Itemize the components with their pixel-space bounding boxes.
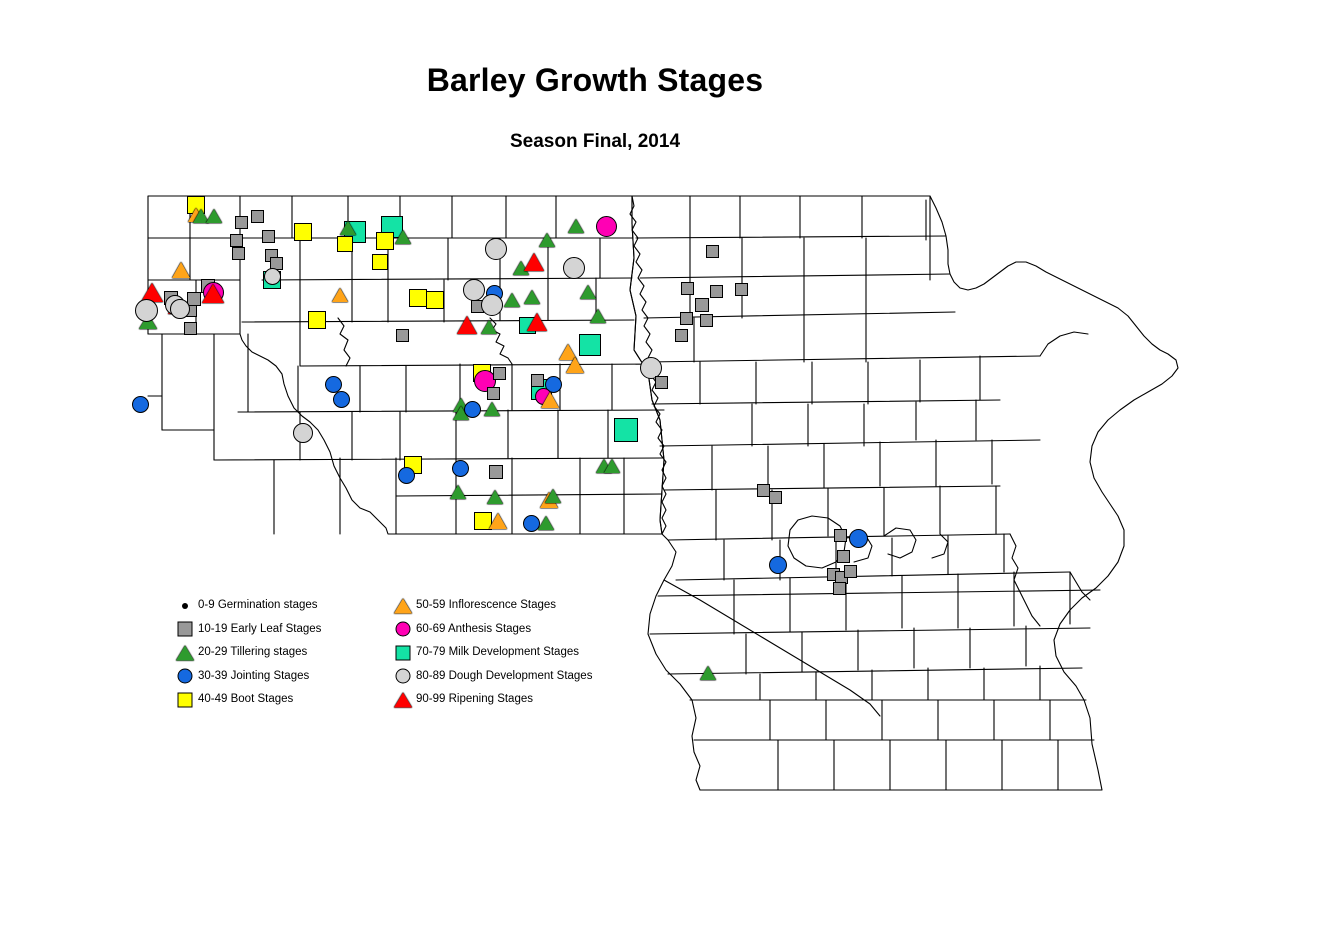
map-marker [340,221,356,235]
map-marker [675,329,688,342]
map-marker [580,285,596,299]
map-marker [264,268,281,285]
map-marker [235,216,248,229]
map-marker [541,392,559,408]
map-marker [409,289,427,307]
map-marker [398,467,415,484]
legend-item-label: 10-19 Early Leaf Stages [198,624,321,636]
map-marker [202,284,224,303]
legend-item-label: 50-59 Inflorescence Stages [416,600,556,612]
map-marker [700,666,716,680]
map-marker [504,293,520,307]
map-marker [232,247,245,260]
map-marker [489,465,503,479]
map-marker [132,396,149,413]
map-marker [251,210,264,223]
legend-item-80-89[interactable]: 80-89 Dough Development Stages [390,665,592,689]
legend-item-label: 70-79 Milk Development Stages [416,647,579,659]
map-marker [293,423,313,443]
map-marker [527,313,547,331]
map-marker [844,565,857,578]
map-marker [484,402,500,416]
map-marker [655,376,668,389]
map-marker [566,357,584,373]
map-marker [376,232,394,250]
map-marker [372,254,388,270]
map-marker [695,298,709,312]
map-marker [464,401,481,418]
legend-column-left: 0-9 Germination stages10-19 Early Leaf S… [172,594,321,712]
legend-item-20-29[interactable]: 20-29 Tillering stages [172,641,321,665]
map-marker [680,312,693,325]
early-leaf-square-icon [172,618,198,640]
map-marker [481,320,497,334]
map-marker [538,516,554,530]
map-marker [769,491,782,504]
ripening-triangle-icon [390,689,416,711]
map-marker [457,316,477,334]
map-marker [426,291,444,309]
map-marker [325,376,342,393]
map-marker [481,294,503,316]
map-marker [262,230,275,243]
legend-item-60-69[interactable]: 60-69 Anthesis Stages [390,618,592,642]
map-marker [539,233,555,247]
legend-item-label: 40-49 Boot Stages [198,694,293,706]
map-marker [568,219,584,233]
legend-item-label: 80-89 Dough Development Stages [416,671,592,683]
map-canvas [0,0,1341,926]
map-marker [837,550,850,563]
map-geography [0,0,1341,926]
map-marker [337,236,353,252]
legend-item-40-49[interactable]: 40-49 Boot Stages [172,688,321,712]
map-marker [395,230,411,244]
map-marker [706,245,719,258]
map-marker [700,314,713,327]
map-marker [614,418,638,442]
map-marker [308,311,326,329]
map-marker [489,513,507,529]
map-marker [450,485,466,499]
milk-square-icon [390,642,416,664]
legend-item-0-9[interactable]: 0-9 Germination stages [172,594,321,618]
legend-item-label: 30-39 Jointing Stages [198,671,309,683]
legend-item-label: 90-99 Ripening Stages [416,694,533,706]
map-marker [170,299,190,319]
map-marker [681,282,694,295]
legend: 0-9 Germination stages10-19 Early Leaf S… [172,594,632,718]
map-marker [590,309,606,323]
map-marker [524,253,544,271]
anthesis-circle-icon [390,618,416,640]
map-marker [596,216,617,237]
legend-item-50-59[interactable]: 50-59 Inflorescence Stages [390,594,592,618]
legend-item-30-39[interactable]: 30-39 Jointing Stages [172,665,321,689]
legend-column-right: 50-59 Inflorescence Stages60-69 Anthesis… [390,594,592,712]
legend-item-label: 20-29 Tillering stages [198,647,307,659]
map-marker [849,529,868,548]
map-marker [833,582,846,595]
map-marker [579,334,601,356]
map-marker [545,489,561,503]
map-marker [333,391,350,408]
map-marker [485,238,507,260]
map-marker [769,556,787,574]
map-marker [710,285,723,298]
map-marker [230,234,243,247]
legend-item-10-19[interactable]: 10-19 Early Leaf Stages [172,618,321,642]
germination-dot-icon [172,595,198,617]
tillering-triangle-icon [172,642,198,664]
map-marker [487,387,500,400]
legend-item-90-99[interactable]: 90-99 Ripening Stages [390,688,592,712]
map-marker [531,374,544,387]
map-marker [294,223,312,241]
map-marker [493,367,506,380]
map-page: Barley Growth Stages Season Final, 2014 [0,0,1341,926]
legend-item-label: 60-69 Anthesis Stages [416,624,531,636]
map-marker [184,322,197,335]
jointing-circle-icon [172,665,198,687]
map-marker [332,288,348,302]
map-marker [396,329,409,342]
map-marker [172,262,190,278]
inflorescence-triangle-icon [390,595,416,617]
map-marker [604,459,620,473]
map-marker [452,460,469,477]
map-marker [463,279,485,301]
map-marker [735,283,748,296]
map-marker [524,290,540,304]
legend-item-70-79[interactable]: 70-79 Milk Development Stages [390,641,592,665]
map-marker [135,299,158,322]
map-marker [487,490,503,504]
dough-circle-icon [390,665,416,687]
legend-item-label: 0-9 Germination stages [198,600,318,612]
map-marker [563,257,585,279]
boot-square-icon [172,689,198,711]
map-marker [834,529,847,542]
map-marker [206,209,222,223]
